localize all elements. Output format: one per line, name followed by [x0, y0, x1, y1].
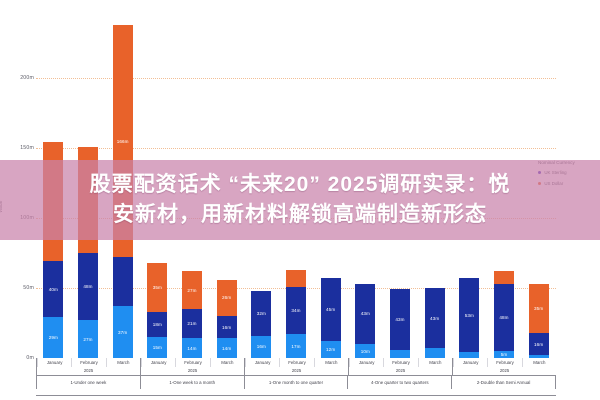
bar-segment[interactable]	[425, 348, 445, 358]
x-axis-group-row: 1-Under one week1-One week to a month1-O…	[36, 375, 556, 389]
x-axis-month-label: January	[37, 358, 71, 367]
x-axis-month-label: February	[279, 358, 313, 367]
stacked-bar[interactable]: 53m	[459, 278, 479, 358]
bar-segment[interactable]: 34m	[286, 287, 306, 335]
x-axis-group-months: JanuaryFebruaryMarch	[140, 358, 244, 367]
bar-segment[interactable]: 29m	[43, 317, 63, 358]
bar-segment[interactable]: 16m	[217, 316, 237, 338]
bar-segment[interactable]	[390, 350, 410, 358]
x-axis-month-label: January	[349, 358, 383, 367]
bar-segment[interactable]: 14m	[217, 338, 237, 358]
stacked-bar[interactable]: 43m	[425, 288, 445, 358]
bar-segment[interactable]: 35m	[147, 263, 167, 312]
x-axis-month-label: February	[383, 358, 417, 367]
stacked-bar[interactable]: 32m16m	[251, 291, 271, 358]
x-axis-month-label: February	[175, 358, 209, 367]
x-axis-month-label: March	[106, 358, 140, 367]
bar-segment[interactable]: 14m	[182, 338, 202, 358]
x-axis-group-months: JanuaryFebruaryMarch	[452, 358, 556, 367]
y-axis-tick-label: 200m	[0, 75, 34, 81]
x-axis-year-label: 2025	[348, 367, 452, 375]
x-axis-month-label: March	[314, 358, 348, 367]
bar-segment[interactable]: 17m	[286, 334, 306, 358]
x-axis-month-label: March	[210, 358, 244, 367]
stacked-bar[interactable]: 45m12m	[321, 278, 341, 358]
bar-segment[interactable]: 16m	[251, 336, 271, 358]
x-axis-year-label: 2025	[140, 367, 244, 375]
bar-segment[interactable]: 45m	[321, 278, 341, 341]
x-axis-year-label: 2025	[244, 367, 348, 375]
stacked-bar[interactable]: 43m10m	[355, 284, 375, 358]
x-axis-group-months: JanuaryFebruaryMarch	[244, 358, 348, 367]
x-axis-month-label: January	[141, 358, 175, 367]
y-axis-tick-label: 50m	[0, 285, 34, 291]
bar-segment[interactable]: 18m	[147, 312, 167, 337]
bar-segment[interactable]: 16m	[529, 333, 549, 355]
x-axis-rule	[36, 395, 556, 396]
overlay-headline-line-2: 安新材，用新材料解锁高端制造新形态	[113, 200, 487, 230]
x-axis-group-label: 1-One week to a month	[140, 376, 244, 389]
x-axis-month-label: January	[245, 358, 279, 367]
y-axis-tick-label: 0m	[0, 355, 34, 361]
stacked-bar[interactable]: 43m	[390, 289, 410, 358]
bar-segment[interactable]: 43m	[355, 284, 375, 344]
bar-segment[interactable]: 15m	[147, 337, 167, 358]
x-axis-month-label: February	[487, 358, 521, 367]
bar-segment[interactable]	[494, 271, 514, 284]
x-axis-group-months: JanuaryFebruaryMarch	[348, 358, 452, 367]
stacked-bar[interactable]: 35m16m	[529, 284, 549, 358]
stacked-bar[interactable]: 27m21m14m	[182, 271, 202, 358]
stacked-bar[interactable]: 48m5m	[494, 271, 514, 358]
x-axis-group-months: JanuaryFebruaryMarch	[36, 358, 140, 367]
x-axis-month-label: February	[71, 358, 105, 367]
bar-segment[interactable]: 48m	[78, 253, 98, 320]
chart-screenshot: Value 0m50m100m150m200m 40m29m48m27m166m…	[0, 0, 600, 400]
y-axis-tick-label: 150m	[0, 145, 34, 151]
bar-segment[interactable]: 53m	[459, 278, 479, 352]
x-axis-year-row: 20252025202520252025	[36, 367, 556, 375]
bar-segment[interactable]: 32m	[251, 291, 271, 336]
bar-segment[interactable]: 37m	[113, 306, 133, 358]
bar-segment[interactable]: 21m	[182, 309, 202, 338]
stacked-bar[interactable]: 34m17m	[286, 270, 306, 358]
bar-segment[interactable]: 12m	[321, 341, 341, 358]
bar-segment[interactable]: 10m	[355, 344, 375, 358]
bar-segment[interactable]: 35m	[529, 284, 549, 333]
bar-segment[interactable]	[286, 270, 306, 287]
bar-segment[interactable]	[113, 257, 133, 306]
x-axis: JanuaryFebruaryMarchJanuaryFebruaryMarch…	[36, 358, 556, 396]
overlay-headline-line-1: 股票配资话术 “未来20” 2025调研实录：悦	[90, 170, 511, 200]
x-axis-group-label: 1-One month to one quarter	[244, 376, 348, 389]
bar-segment[interactable]: 27m	[182, 271, 202, 309]
bar-segment[interactable]: 43m	[390, 289, 410, 349]
x-axis-month-row: JanuaryFebruaryMarchJanuaryFebruaryMarch…	[36, 358, 556, 367]
bar-segment[interactable]: 27m	[78, 320, 98, 358]
stacked-bar[interactable]: 35m18m15m	[147, 263, 167, 358]
x-axis-month-label: January	[453, 358, 487, 367]
bar-segment[interactable]: 26m	[217, 280, 237, 316]
bar-segment[interactable]: 48m	[494, 284, 514, 351]
x-axis-group-label: 2-Double than Semi Annual	[451, 376, 556, 389]
overlay-banner: 股票配资话术 “未来20” 2025调研实录：悦 安新材，用新材料解锁高端制造新…	[0, 160, 600, 240]
x-axis-month-label: March	[418, 358, 452, 367]
bar-segment[interactable]: 40m	[43, 261, 63, 317]
x-axis-year-label: 2025	[36, 367, 140, 375]
x-axis-month-label: March	[522, 358, 556, 367]
x-axis-group-label: 1-Under one week	[36, 376, 140, 389]
x-axis-year-label: 2025	[452, 367, 556, 375]
x-axis-group-label: 4-One quarter to two quarters	[347, 376, 451, 389]
stacked-bar[interactable]: 26m16m14m	[217, 280, 237, 358]
bar-segment[interactable]: 43m	[425, 288, 445, 348]
bar-segment[interactable]: 5m	[494, 351, 514, 358]
